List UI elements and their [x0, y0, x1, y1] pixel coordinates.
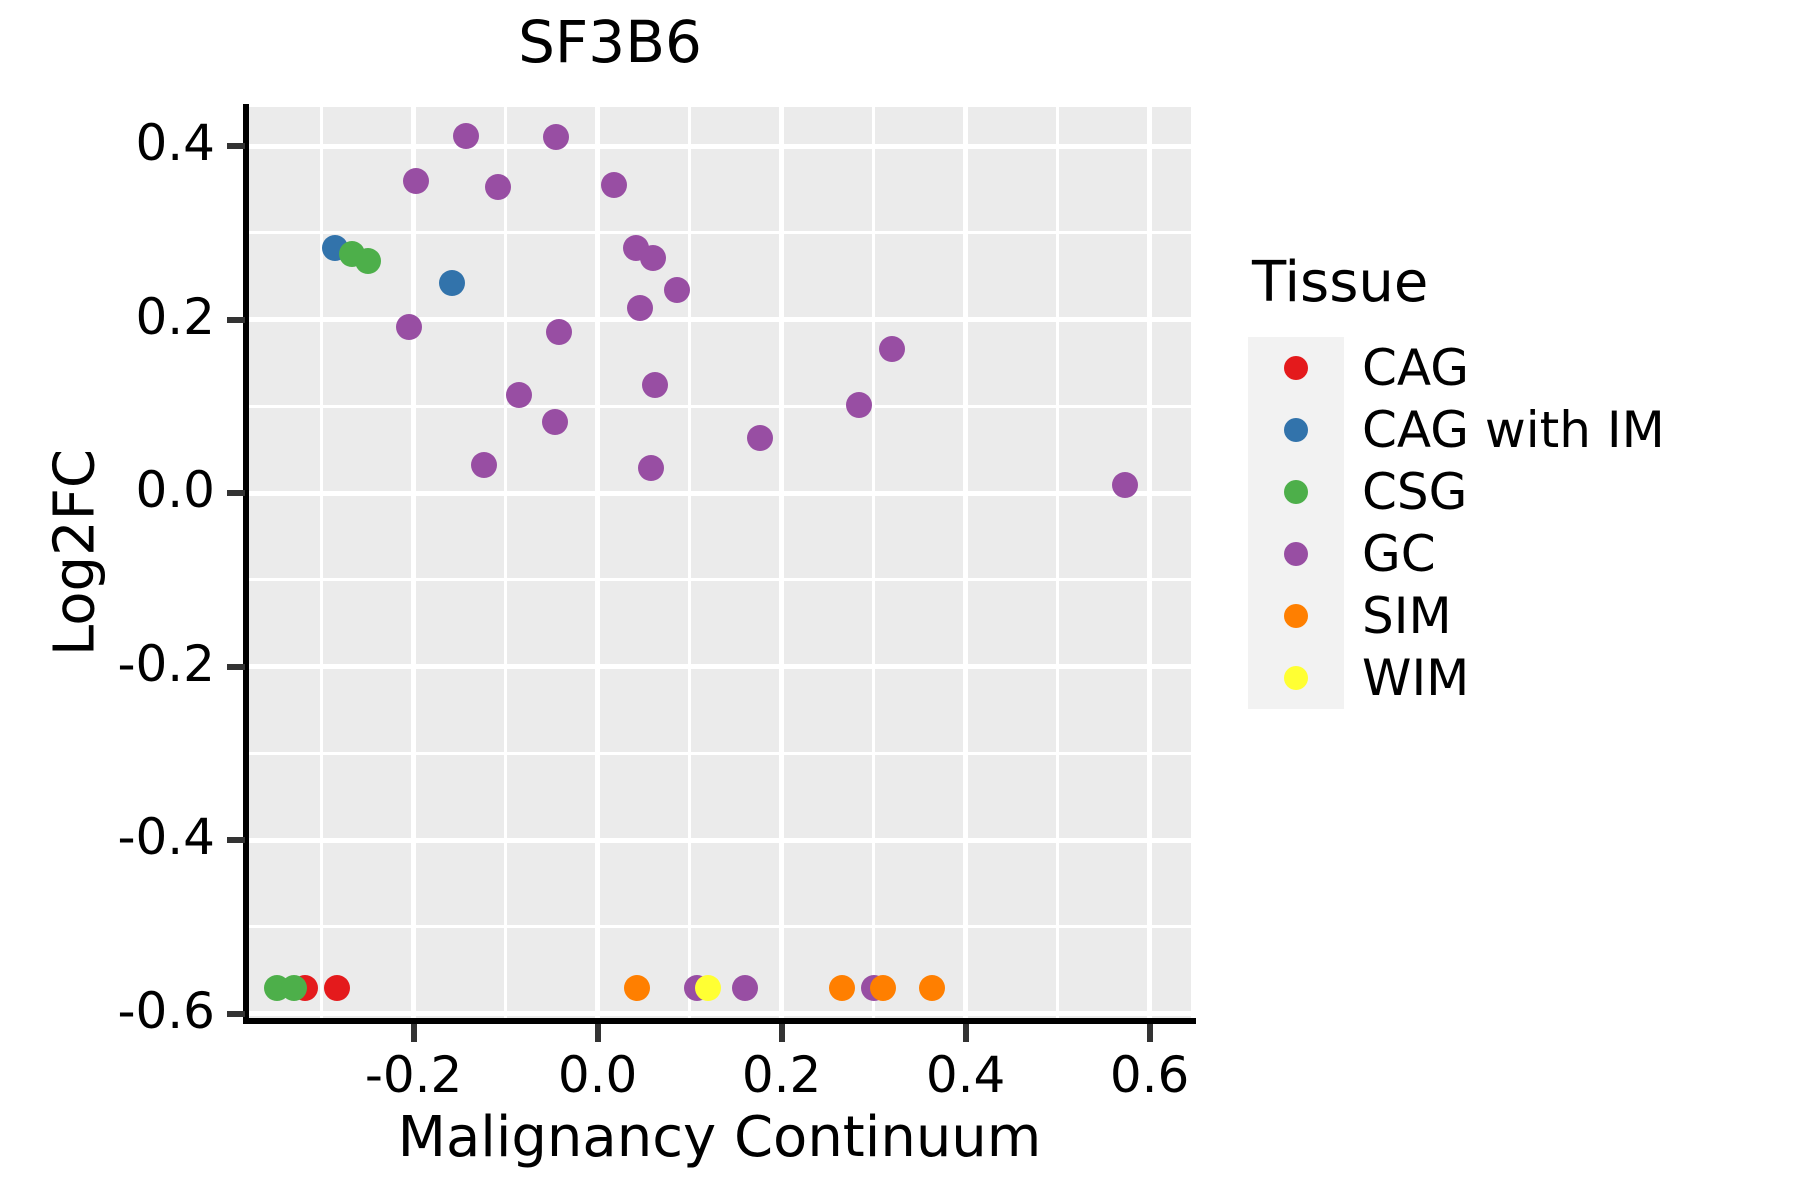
legend-dot-icon — [1284, 604, 1308, 628]
data-point-cag — [324, 975, 350, 1001]
data-point-gc — [601, 172, 627, 198]
legend-item-wim[interactable]: WIM — [1248, 647, 1788, 709]
x-axis-tick-label: 0.0 — [498, 1046, 698, 1104]
data-point-sim — [919, 975, 945, 1001]
y-axis-tick — [227, 1011, 245, 1017]
legend-dot-icon — [1284, 542, 1308, 566]
data-point-cag-with-im — [439, 270, 465, 296]
legend-dot-icon — [1284, 356, 1308, 380]
gridline-horizontal-minor — [248, 231, 1191, 234]
gridline-horizontal-minor — [248, 578, 1191, 581]
data-point-gc — [640, 245, 666, 271]
x-axis-tick — [1147, 1024, 1153, 1042]
x-axis-tick — [411, 1024, 417, 1042]
x-axis-line — [243, 1018, 1196, 1024]
y-axis-tick-label: -0.4 — [0, 808, 215, 866]
legend-item-sim[interactable]: SIM — [1248, 585, 1788, 647]
gridline-horizontal — [248, 1011, 1191, 1016]
y-axis-tick — [227, 317, 245, 323]
y-axis-tick-label: -0.6 — [0, 982, 215, 1040]
x-axis-tick — [779, 1024, 785, 1042]
gridline-vertical — [411, 107, 416, 1018]
gridline-vertical — [595, 107, 600, 1018]
legend-key — [1248, 647, 1344, 709]
data-point-gc — [664, 277, 690, 303]
data-point-gc — [642, 372, 668, 398]
data-point-gc — [627, 295, 653, 321]
legend-item-cag-with-im[interactable]: CAG with IM — [1248, 399, 1788, 461]
x-axis-tick — [595, 1024, 601, 1042]
data-point-gc — [638, 455, 664, 481]
data-point-gc — [879, 336, 905, 362]
gridline-vertical-minor — [504, 107, 507, 1018]
legend-item-label: CSG — [1362, 467, 1467, 517]
legend-dot-icon — [1284, 666, 1308, 690]
data-point-gc — [747, 425, 773, 451]
legend-item-label: WIM — [1362, 653, 1469, 703]
data-point-sim — [829, 975, 855, 1001]
data-point-gc — [546, 319, 572, 345]
y-axis-tick — [227, 490, 245, 496]
gridline-vertical-minor — [688, 107, 691, 1018]
y-axis-title: Log2FC — [43, 403, 108, 703]
x-axis-tick-label: 0.2 — [682, 1046, 882, 1104]
y-axis-tick — [227, 143, 245, 149]
gridline-horizontal — [248, 664, 1191, 669]
gridline-horizontal — [248, 491, 1191, 496]
x-axis-tick — [963, 1024, 969, 1042]
legend-title: Tissue — [1252, 255, 1788, 311]
legend-key — [1248, 523, 1344, 585]
data-point-gc — [846, 392, 872, 418]
x-axis-tick-label: -0.2 — [314, 1046, 514, 1104]
scatter-plot-figure: SF3B6 0.40.20.0-0.2-0.4-0.6 -0.20.00.20.… — [0, 0, 1800, 1200]
gridline-horizontal — [248, 317, 1191, 322]
legend-item-cag[interactable]: CAG — [1248, 337, 1788, 399]
legend-key — [1248, 337, 1344, 399]
gridline-horizontal-minor — [248, 405, 1191, 408]
gridline-horizontal — [248, 144, 1191, 149]
data-point-csg — [355, 248, 381, 274]
data-point-gc — [453, 123, 479, 149]
legend-item-label: CAG — [1362, 343, 1469, 393]
data-point-gc — [485, 174, 511, 200]
y-axis-tick-label: 0.4 — [0, 114, 215, 172]
y-axis-tick-label: 0.0 — [0, 461, 215, 519]
gridline-vertical — [963, 107, 968, 1018]
y-axis-tick-label: -0.2 — [0, 635, 215, 693]
y-axis-tick — [227, 837, 245, 843]
gridline-vertical — [1147, 107, 1152, 1018]
data-point-gc — [403, 168, 429, 194]
data-point-sim — [870, 975, 896, 1001]
data-point-sim — [624, 975, 650, 1001]
y-axis-line — [243, 104, 249, 1024]
legend-item-csg[interactable]: CSG — [1248, 461, 1788, 523]
gridline-horizontal-minor — [248, 925, 1191, 928]
data-point-csg — [281, 975, 307, 1001]
gridline-vertical-minor — [872, 107, 875, 1018]
legend-dot-icon — [1284, 418, 1308, 442]
data-point-gc — [542, 409, 568, 435]
legend-item-label: CAG with IM — [1362, 405, 1665, 455]
gridline-horizontal — [248, 838, 1191, 843]
legend-item-gc[interactable]: GC — [1248, 523, 1788, 585]
data-point-wim — [695, 975, 721, 1001]
legend: Tissue CAGCAG with IMCSGGCSIMWIM — [1248, 255, 1788, 709]
data-point-gc — [471, 452, 497, 478]
plot-panel — [248, 107, 1191, 1018]
gridline-vertical — [779, 107, 784, 1018]
legend-item-label: GC — [1362, 529, 1436, 579]
legend-key — [1248, 461, 1344, 523]
y-axis-tick — [227, 664, 245, 670]
data-point-gc — [396, 314, 422, 340]
x-axis-tick-label: 0.6 — [1050, 1046, 1250, 1104]
legend-key — [1248, 585, 1344, 647]
page-title: SF3B6 — [0, 8, 1220, 76]
data-point-gc — [732, 975, 758, 1001]
legend-items: CAGCAG with IMCSGGCSIMWIM — [1248, 337, 1788, 709]
x-axis-title: Malignancy Continuum — [248, 1105, 1191, 1170]
gridline-horizontal-minor — [248, 752, 1191, 755]
legend-dot-icon — [1284, 480, 1308, 504]
legend-key — [1248, 399, 1344, 461]
y-axis-tick-label: 0.2 — [0, 288, 215, 346]
legend-item-label: SIM — [1362, 591, 1452, 641]
x-axis-tick-label: 0.4 — [866, 1046, 1066, 1104]
data-point-gc — [1112, 472, 1138, 498]
gridline-vertical-minor — [1056, 107, 1059, 1018]
